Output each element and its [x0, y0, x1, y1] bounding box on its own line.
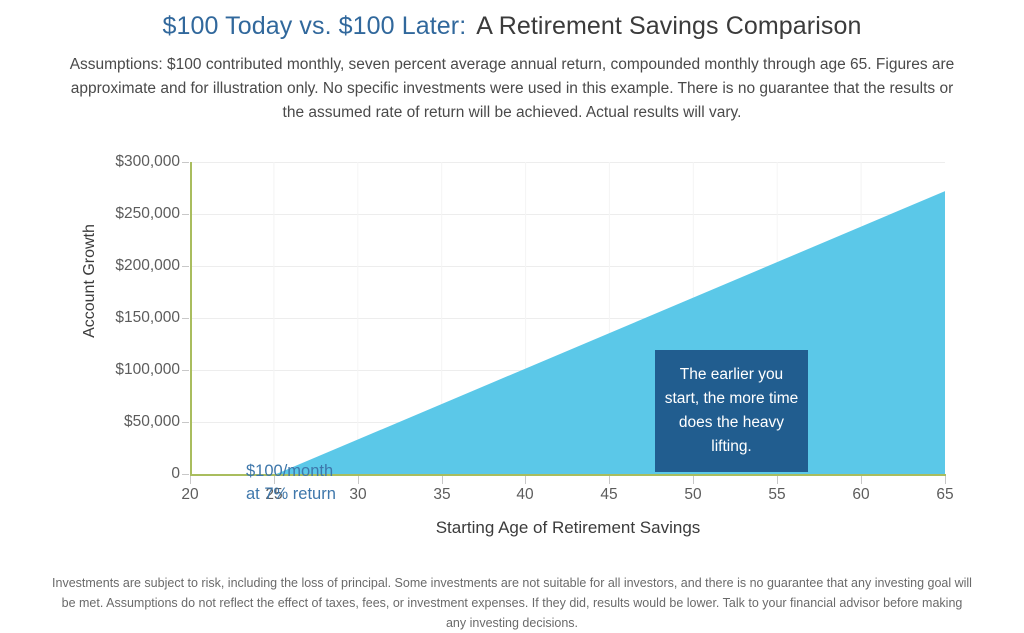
x-axis-title: Starting Age of Retirement Savings: [190, 518, 946, 538]
y-tick-mark: [182, 474, 189, 475]
x-tick-mark: [525, 476, 526, 484]
y-tick-mark: [182, 162, 189, 163]
x-tick-mark: [609, 476, 610, 484]
x-tick-label: 20: [181, 486, 198, 504]
x-tick-mark: [358, 476, 359, 484]
x-tick-label: 55: [768, 486, 785, 504]
chart-container: $300,000 $250,000 $200,000 $150,000 $100…: [0, 152, 1024, 552]
x-tick-mark: [693, 476, 694, 484]
y-axis-title: Account Growth: [81, 181, 99, 381]
y-tick-label: $200,000: [60, 257, 180, 275]
y-tick-mark: [182, 422, 189, 423]
page-title-rest: A Retirement Savings Comparison: [476, 12, 861, 40]
x-tick-label: 40: [516, 486, 533, 504]
y-tick-label: $150,000: [60, 309, 180, 327]
y-tick-mark: [182, 318, 189, 319]
y-tick-mark: [182, 214, 189, 215]
contribution-note: $100/month at 7% return: [246, 460, 336, 506]
contribution-note-line2: at 7% return: [246, 483, 336, 506]
callout-text: The earlier you start, the more time doe…: [663, 363, 800, 459]
x-tick-label: 65: [936, 486, 953, 504]
x-tick-label: 30: [349, 486, 366, 504]
contribution-note-line1: $100/month: [246, 460, 336, 483]
page-title-accent: $100 Today vs. $100 Later:: [163, 12, 467, 40]
y-axis-ticks: $300,000 $250,000 $200,000 $150,000 $100…: [52, 152, 180, 475]
assumptions-text: Assumptions: $100 contributed monthly, s…: [62, 53, 962, 125]
x-tick-mark: [777, 476, 778, 484]
y-tick-label: $100,000: [60, 361, 180, 379]
x-tick-mark: [861, 476, 862, 484]
callout-box: The earlier you start, the more time doe…: [655, 350, 808, 472]
x-tick-mark: [442, 476, 443, 484]
page-title: $100 Today vs. $100 Later:A Retirement S…: [0, 12, 1024, 41]
y-axis-line: [190, 162, 192, 475]
y-tick-label: $50,000: [60, 413, 180, 431]
y-tick-label: $250,000: [60, 205, 180, 223]
x-tick-label: 50: [684, 486, 701, 504]
y-tick-label: $300,000: [60, 153, 180, 171]
y-tick-mark: [182, 370, 189, 371]
disclaimer-text: Investments are subject to risk, includi…: [50, 573, 974, 633]
x-tick-label: 60: [852, 486, 869, 504]
x-tick-label: 45: [600, 486, 617, 504]
x-tick-mark: [190, 476, 191, 484]
x-tick-label: 35: [433, 486, 450, 504]
x-tick-mark: [945, 476, 946, 484]
plot-area: [190, 162, 945, 475]
y-tick-mark: [182, 266, 189, 267]
y-tick-label: 0: [60, 465, 180, 483]
plot-svg: [190, 162, 945, 475]
